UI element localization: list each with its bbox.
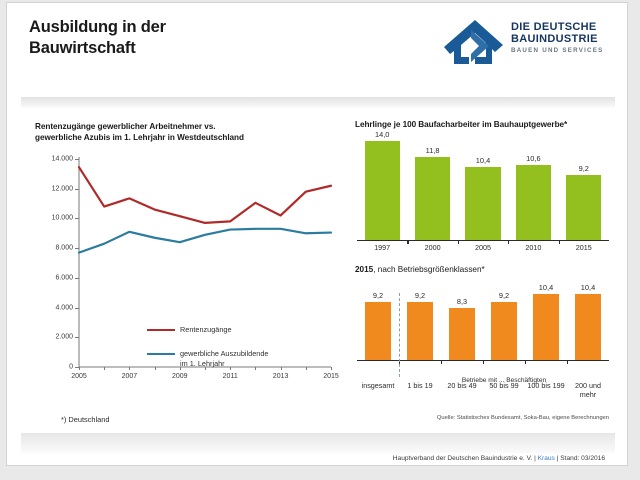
- x-tick-label: 2007: [122, 373, 138, 380]
- y-tick-label: 6.000: [27, 274, 73, 281]
- page-title: Ausbildung in der Bauwirtschaft: [29, 17, 359, 59]
- bar: [575, 294, 601, 361]
- bar: [533, 294, 559, 361]
- bar-column: 10,4: [533, 286, 559, 361]
- bar-category-label: 2005: [475, 243, 491, 252]
- y-tick-label: 12.000: [27, 185, 73, 192]
- x-tick-mark: [281, 367, 282, 370]
- left-chart-title-line1: Rentenzugänge gewerblicher Arbeitnehmer …: [35, 121, 327, 132]
- bar-column: 11,8: [415, 140, 450, 241]
- bar-category-label-line: 200 und: [575, 381, 601, 390]
- bar-axis-tick: [441, 361, 442, 364]
- left-chart-title-line2: gewerbliche Azubis im 1. Lehrjahr in Wes…: [35, 132, 327, 143]
- legend-label: gewerbliche Auszubildendeim 1. Lehrjahr: [180, 349, 268, 369]
- y-tick-mark: [75, 337, 79, 338]
- orange-chart-title-year: 2015: [355, 265, 373, 274]
- bar-axis-tick: [559, 241, 560, 244]
- legend-item: Rentenzugänge: [147, 325, 268, 335]
- bar-category-label-line: 2010: [525, 243, 541, 252]
- y-tick-mark: [75, 248, 79, 249]
- x-tick-mark: [79, 367, 80, 370]
- bar-value-label: 9,2: [499, 291, 509, 300]
- y-tick-label: 2.000: [27, 334, 73, 341]
- legend-swatch-line-icon: [147, 353, 175, 355]
- left-chart-panel: Rentenzugänge gewerblicher Arbeitnehmer …: [21, 115, 341, 433]
- slide-canvas: Ausbildung in der Bauwirtschaft DIE DEUT…: [6, 2, 628, 466]
- y-tick-mark: [75, 308, 79, 309]
- bar-column: 8,3: [449, 286, 475, 361]
- bar-axis-tick: [407, 241, 408, 244]
- bar-category-label: 200 undmehr: [575, 381, 601, 399]
- bar-column: 9,2: [491, 286, 517, 361]
- x-tick-label: 2015: [323, 373, 339, 380]
- bar-value-label: 14,0: [375, 130, 389, 139]
- bar: [365, 302, 391, 361]
- bar-value-label: 10,4: [581, 283, 595, 292]
- bar-value-label: 11,8: [426, 146, 440, 155]
- x-tick-mark: [129, 367, 130, 370]
- footer-sep-2: |: [557, 455, 559, 462]
- bar-axis-tick: [525, 361, 526, 364]
- green-chart-panel: Lehrlinge je 100 Baufacharbeiter im Bauh…: [351, 115, 615, 255]
- legend-label-line1: Rentenzugänge: [180, 325, 268, 335]
- bar-value-label: 9,2: [373, 291, 383, 300]
- logo: DIE DEUTSCHE BAUINDUSTRIE BAUEN UND SERV…: [443, 15, 611, 77]
- bar-axis-tick: [458, 241, 459, 244]
- orange-chart-title-rest: , nach Betriebsgrößenklassen*: [373, 265, 485, 274]
- bar-column: 10,4: [575, 286, 601, 361]
- y-tick-label: 4.000: [27, 304, 73, 311]
- bar-category-label-line: insgesamt: [362, 381, 395, 390]
- page-title-line2: Bauwirtschaft: [29, 38, 359, 59]
- bar: [465, 167, 500, 241]
- bar: [449, 308, 475, 361]
- bar-column: 10,4: [465, 140, 500, 241]
- y-tick-label: 14.000: [27, 156, 73, 163]
- logo-line-1: DIE DEUTSCHE: [511, 21, 611, 33]
- green-chart-title: Lehrlinge je 100 Baufacharbeiter im Bauh…: [355, 119, 617, 130]
- logo-line-2: BAUINDUSTRIE: [511, 33, 611, 45]
- bauindustrie-house-arrow-icon: [443, 17, 505, 69]
- bar: [566, 175, 601, 241]
- legend-swatch-line-icon: [147, 329, 175, 331]
- logo-tagline: BAUEN UND SERVICES: [511, 47, 611, 54]
- y-tick-label: 0: [27, 364, 73, 371]
- y-tick-label: 8.000: [27, 245, 73, 252]
- left-chart-footnote: *) Deutschland: [61, 415, 109, 424]
- y-tick-mark: [75, 159, 79, 160]
- bar-category-label-line: 2005: [475, 243, 491, 252]
- bar-axis-tick: [483, 361, 484, 364]
- x-tick-mark: [104, 367, 105, 370]
- source-note: Quelle: Statistisches Bundesamt, Soka-Ba…: [437, 415, 609, 421]
- slide-header: Ausbildung in der Bauwirtschaft DIE DEUT…: [7, 3, 627, 95]
- green-chart-bars: 14,011,810,410,69,219972000200520102015: [357, 141, 609, 255]
- line-series-1: [79, 229, 331, 253]
- line-chart-legend: Rentenzugängegewerbliche Auszubildendeim…: [147, 325, 268, 383]
- legend-label-line1: gewerbliche Auszubildende: [180, 349, 268, 359]
- line-chart: 02.0004.0006.0008.00010.00012.00014.000 …: [29, 153, 335, 393]
- bar: [407, 302, 433, 361]
- orange-chart-divider: [399, 293, 400, 377]
- legend-label: Rentenzugänge: [180, 325, 268, 335]
- bar-value-label: 10,4: [476, 156, 490, 165]
- bar-column: 9,2: [407, 286, 433, 361]
- bar-value-label: 9,2: [579, 164, 589, 173]
- bar-value-label: 10,4: [539, 283, 553, 292]
- y-tick-mark: [75, 218, 79, 219]
- bar-value-label: 9,2: [415, 291, 425, 300]
- bar: [365, 141, 400, 241]
- footer-sep-1: |: [534, 455, 536, 462]
- bar-column: 9,2: [566, 140, 601, 241]
- bar-category-label-line: 2015: [576, 243, 592, 252]
- slide-footer: Hauptverband der Deutschen Bauindustrie …: [393, 455, 605, 462]
- bar-category-label: insgesamt: [362, 381, 395, 390]
- footer-status: Stand: 03/2016: [560, 455, 605, 462]
- line-series-0: [79, 167, 331, 223]
- bar-category-label: 2015: [576, 243, 592, 252]
- orange-chart-group-caption: Betriebe mit ... Beschäftigten: [462, 377, 546, 384]
- footer-author: Kraus: [538, 455, 555, 462]
- bar: [491, 302, 517, 361]
- page-title-line1: Ausbildung in der: [29, 17, 359, 38]
- bar: [516, 165, 551, 241]
- x-tick-mark: [331, 367, 332, 370]
- bar-value-label: 10,6: [526, 154, 540, 163]
- bar-category-label: 1997: [374, 243, 390, 252]
- bar-category-label: 2010: [525, 243, 541, 252]
- x-tick-label: 2005: [71, 373, 87, 380]
- x-tick-label: 2013: [273, 373, 289, 380]
- bar-axis-tick: [508, 241, 509, 244]
- legend-item: gewerbliche Auszubildendeim 1. Lehrjahr: [147, 349, 268, 369]
- bar-value-label: 8,3: [457, 297, 467, 306]
- bar-chart-axis-line: [357, 240, 609, 241]
- y-tick-mark: [75, 189, 79, 190]
- x-tick-mark: [306, 367, 307, 370]
- y-tick-mark: [75, 278, 79, 279]
- bar-column: 9,2: [365, 286, 391, 361]
- bar-category-label-line: 1 bis 19: [407, 381, 432, 390]
- footer-org: Hauptverband der Deutschen Bauindustrie …: [393, 455, 532, 462]
- bar-axis-tick: [567, 361, 568, 364]
- y-tick-label: 10.000: [27, 215, 73, 222]
- bar-category-label-line: 2000: [425, 243, 441, 252]
- footer-divider-band: [21, 433, 615, 453]
- logo-wordmark: DIE DEUTSCHE BAUINDUSTRIE BAUEN UND SERV…: [511, 21, 611, 54]
- orange-chart-panel: 2015, nach Betriebsgrößenklassen* 9,29,2…: [351, 261, 615, 433]
- bar: [415, 157, 450, 241]
- bar-category-label-line: 1997: [374, 243, 390, 252]
- orange-chart-title: 2015, nach Betriebsgrößenklassen*: [355, 265, 611, 274]
- legend-label-line2: im 1. Lehrjahr: [180, 359, 268, 369]
- left-chart-title: Rentenzugänge gewerblicher Arbeitnehmer …: [35, 121, 327, 143]
- bar-column: 10,6: [516, 140, 551, 241]
- bar-category-label: 1 bis 19: [407, 381, 432, 390]
- header-divider-band: [21, 97, 615, 108]
- bar-category-label: 2000: [425, 243, 441, 252]
- bar-column: 14,0: [365, 140, 400, 241]
- bar-category-label-line: mehr: [575, 390, 601, 399]
